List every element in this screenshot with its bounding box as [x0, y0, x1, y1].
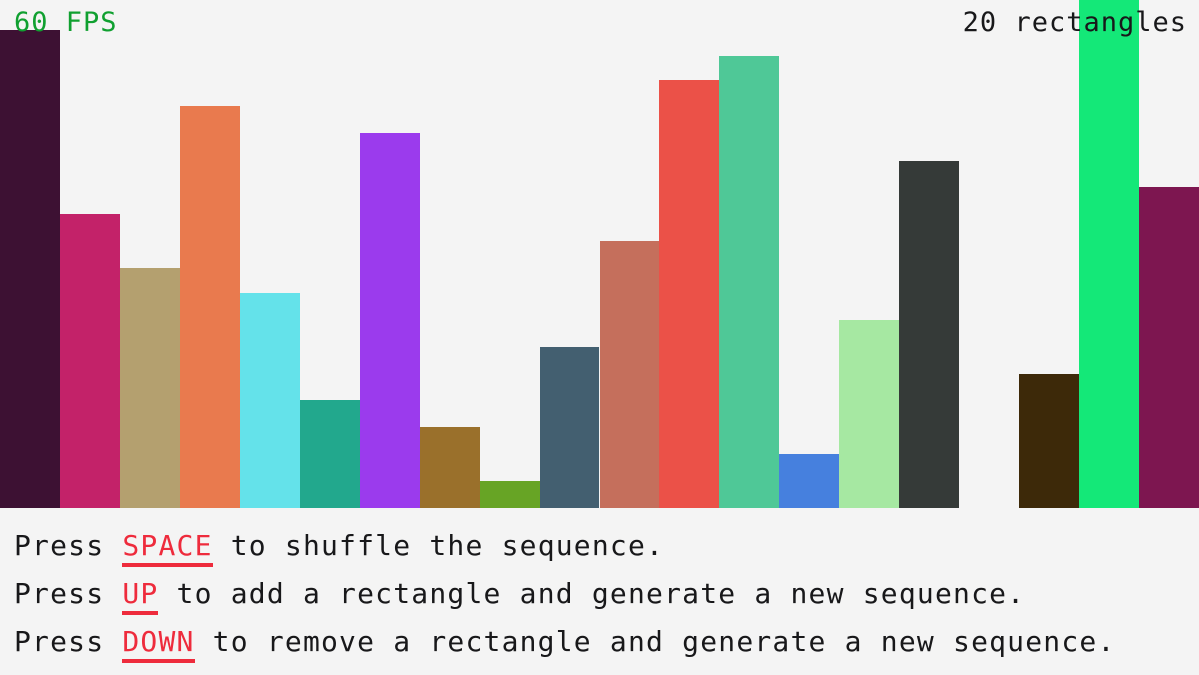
chart-bar	[180, 106, 240, 508]
chart-bar	[659, 80, 719, 508]
instruction-prefix: Press	[14, 529, 122, 562]
instruction-suffix: to add a rectangle and generate a new se…	[158, 577, 1025, 610]
instruction-suffix: to shuffle the sequence.	[213, 529, 664, 562]
chart-bar	[839, 320, 899, 508]
chart-bar	[420, 427, 480, 508]
chart-bar	[360, 133, 420, 508]
chart-bar	[0, 30, 60, 508]
instruction-prefix: Press	[14, 625, 122, 658]
keyboard-key-down[interactable]: DOWN	[122, 625, 194, 663]
instruction-suffix: to remove a rectangle and generate a new…	[195, 625, 1116, 658]
instructions-panel: Press SPACE to shuffle the sequence.Pres…	[0, 508, 1199, 675]
chart-bar	[480, 481, 540, 508]
chart-bar	[540, 347, 600, 508]
chart-bar	[600, 241, 660, 508]
rectangle-chart	[0, 0, 1199, 508]
rectangle-count-readout: 20 rectangles	[963, 9, 1187, 36]
chart-bar	[779, 454, 839, 508]
app-root: 60 FPS 20 rectangles Press SPACE to shuf…	[0, 0, 1199, 675]
instruction-line: Press DOWN to remove a rectangle and gen…	[14, 618, 1199, 666]
instruction-prefix: Press	[14, 577, 122, 610]
chart-bar	[60, 214, 120, 508]
chart-bar	[899, 161, 959, 508]
keyboard-key-space[interactable]: SPACE	[122, 529, 212, 567]
chart-bar	[240, 293, 300, 508]
instruction-line: Press UP to add a rectangle and generate…	[14, 570, 1199, 618]
chart-bar	[120, 268, 180, 508]
chart-bar	[1019, 374, 1079, 508]
chart-bar	[1139, 187, 1199, 508]
keyboard-key-up[interactable]: UP	[122, 577, 158, 615]
chart-bar	[719, 56, 779, 508]
chart-bar	[1079, 0, 1139, 508]
chart-bar	[300, 400, 360, 508]
fps-readout: 60 FPS	[14, 9, 118, 36]
instruction-line: Press SPACE to shuffle the sequence.	[14, 522, 1199, 570]
